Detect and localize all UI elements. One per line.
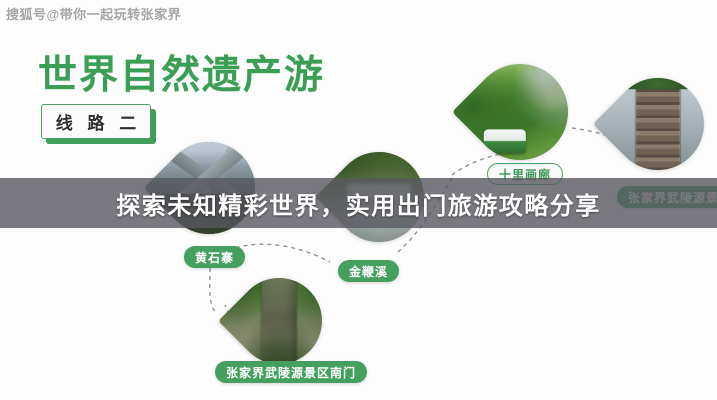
node-photo-shilihualang[interactable]: [472, 64, 568, 160]
connector-huangshizhai-to-pillar: [210, 268, 215, 312]
label-wulingyuan-south[interactable]: 张家界武陵源景区南门: [215, 361, 367, 383]
label-huangshizhai[interactable]: 黄石寨: [184, 246, 245, 268]
page-title: 世界自然遗产游: [38, 44, 325, 100]
caption-overlay-band: 探索未知精彩世界，实用出门旅游攻略分享: [0, 178, 717, 228]
route-badge: 线 路 二: [41, 104, 151, 139]
pagoda-tower-photo: [593, 59, 717, 189]
route-badge-label: 线 路 二: [41, 104, 151, 139]
label-jinbianxi[interactable]: 金鞭溪: [338, 260, 399, 282]
infographic-canvas: 搜狐号@带你一起玩转张家界 世界自然遗产游 线 路 二 黄石寨 金鞭溪: [0, 0, 717, 400]
watermark-text: 搜狐号@带你一起玩转张家界: [6, 4, 181, 23]
node-photo-wulingyuan-south[interactable]: [236, 278, 322, 364]
tour-bus-road-photo: [452, 44, 588, 180]
node-photo-wulingyuan-east[interactable]: [612, 78, 704, 170]
caption-text: 探索未知精彩世界，实用出门旅游攻略分享: [116, 186, 601, 221]
